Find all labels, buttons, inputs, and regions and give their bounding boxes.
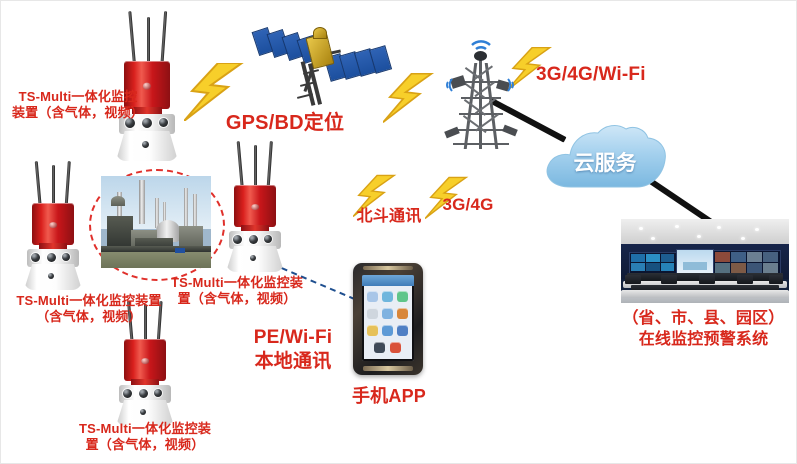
label-device-top-left: TS-Multi一体化监控 装置（含气体，视频） [3, 89, 153, 122]
label-pe-wifi-local: PE/Wi-Fi 本地通讯 [235, 326, 351, 374]
satellite [251, 13, 391, 113]
mobile-screen[interactable] [362, 275, 414, 361]
signal-left-icon [439, 77, 455, 93]
label-beidou: 北斗通讯 [339, 207, 439, 227]
cell-tower [433, 23, 529, 155]
app-icon[interactable] [367, 308, 378, 319]
label-device-mid-right: TS-Multi一体化监控装 置（含气体，视频） [161, 275, 313, 308]
monitoring-device-top-left[interactable] [109, 11, 185, 163]
label-mobile-app: 手机APP [338, 385, 440, 408]
monitoring-device-mid-left[interactable] [17, 161, 89, 291]
label-device-mid-left: TS-Multi一体化监控装置 （含气体，视频） [1, 293, 177, 326]
label-device-bottom: TS-Multi一体化监控装 置（含气体，视频） [67, 421, 223, 454]
label-gps-bd: GPS/BD定位 [215, 111, 355, 136]
monitoring-device-mid-right[interactable] [219, 141, 291, 273]
label-3g4g: 3G/4G [426, 194, 510, 215]
app-icon[interactable] [367, 325, 378, 336]
app-icon[interactable] [382, 291, 393, 302]
signal-right-icon [505, 77, 521, 93]
app-icon[interactable] [397, 308, 408, 319]
control-room-photo [621, 219, 789, 303]
app-icon[interactable] [367, 291, 378, 302]
cloud-service-label: 云服务 [541, 147, 669, 177]
app-icon[interactable] [382, 325, 393, 336]
diagram-canvas: 云服务 [0, 0, 797, 464]
app-icon[interactable] [390, 342, 401, 353]
label-3g4g-wifi: 3G/4G/Wi-Fi [536, 63, 706, 87]
industrial-plant-photo [101, 176, 211, 268]
app-icon[interactable] [382, 308, 393, 319]
cloud-service: 云服务 [541, 119, 669, 193]
app-icon[interactable] [374, 342, 385, 353]
app-icon[interactable] [397, 291, 408, 302]
app-icon[interactable] [397, 325, 408, 336]
label-control-room: （省、市、县、园区） 在线监控预警系统 [596, 309, 797, 351]
mobile-device[interactable] [353, 263, 423, 375]
